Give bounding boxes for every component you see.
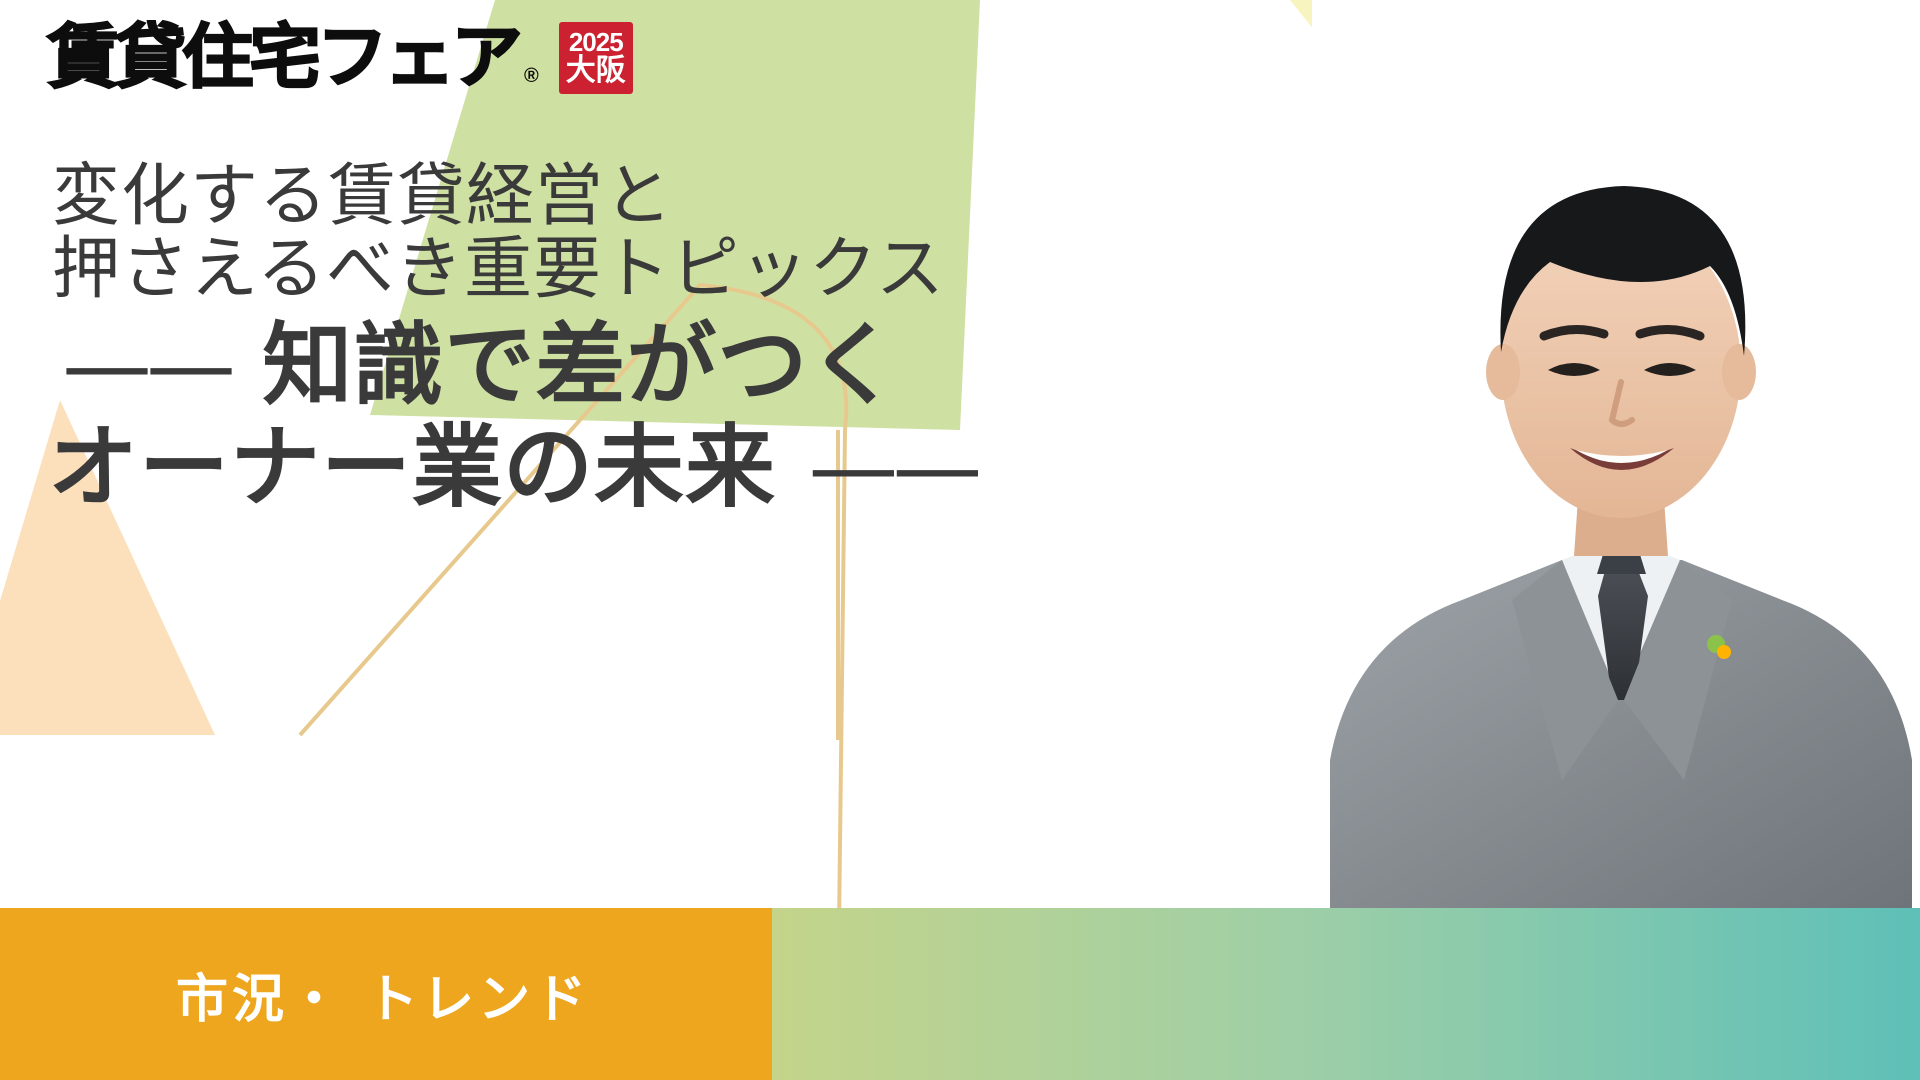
title-dash-trailing: —— <box>808 415 976 520</box>
title-line-4-text: オーナー業の未来 <box>48 415 776 520</box>
title-line-3-text: 知識で差がつく <box>262 313 899 418</box>
title-line-1: 変化する賃貸経営と <box>52 160 976 233</box>
speaker-photo <box>1312 0 1920 908</box>
event-logo[interactable]: 賃貸住宅フェア ® 2025 大阪 <box>52 20 633 94</box>
category-label: 市況・ トレンド <box>176 957 590 1032</box>
event-year-city-badge: 2025 大阪 <box>559 22 633 94</box>
title-line-3: —— 知識で差がつく <box>62 315 976 418</box>
slide-canvas: 公益財団法人 日本賃貸住宅管理協会 石井 信也 さん 賃貸住宅フェア ® 202… <box>0 0 1920 1080</box>
event-logo-text: 賃貸住宅フェア <box>47 22 518 92</box>
category-banner-gradient <box>772 908 1920 1080</box>
registered-trademark-icon: ® <box>524 65 539 88</box>
title-line-4: オーナー業の未来 —— <box>48 417 976 520</box>
title-dash-leading: —— <box>62 313 230 418</box>
badge-city: 大阪 <box>566 56 626 87</box>
category-banner: 市況・ トレンド <box>0 908 1920 1080</box>
category-banner-left: 市況・ トレンド <box>0 908 772 1080</box>
session-title: 変化する賃貸経営と 押さえるべき重要トピックス —— 知識で差がつく オーナー業… <box>52 160 976 520</box>
title-line-2: 押さえるべき重要トピックス <box>52 233 976 306</box>
badge-year: 2025 <box>569 29 623 56</box>
